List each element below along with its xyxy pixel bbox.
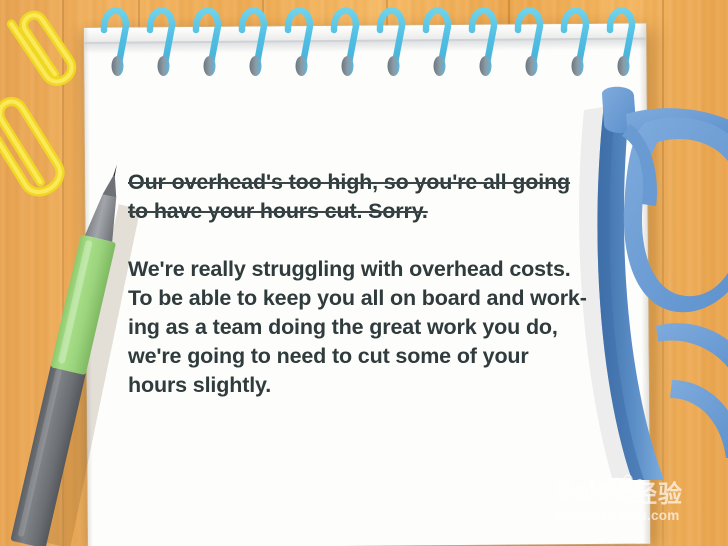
note-line: we're going to need to cut some of your [128,342,598,371]
note-text-block: Our overhead's too high, so you're all g… [128,168,598,400]
paper-clip-upper [11,8,76,86]
note-line: ing as a team doing the great work you d… [128,313,598,342]
struck-paragraph: Our overhead's too high, so you're all g… [128,168,598,226]
screenshot-scene: Our overhead's too high, so you're all g… [0,0,728,546]
note-line: hours slightly. [128,371,598,400]
note-line: Our overhead's too high, so you're all g… [128,168,598,197]
note-line: To be able to keep you all on board and … [128,284,598,313]
note-line: to have your hours cut. Sorry. [128,197,598,226]
revised-paragraph: We're really struggling with overhead co… [128,255,598,400]
note-line: We're really struggling with overhead co… [128,255,598,284]
